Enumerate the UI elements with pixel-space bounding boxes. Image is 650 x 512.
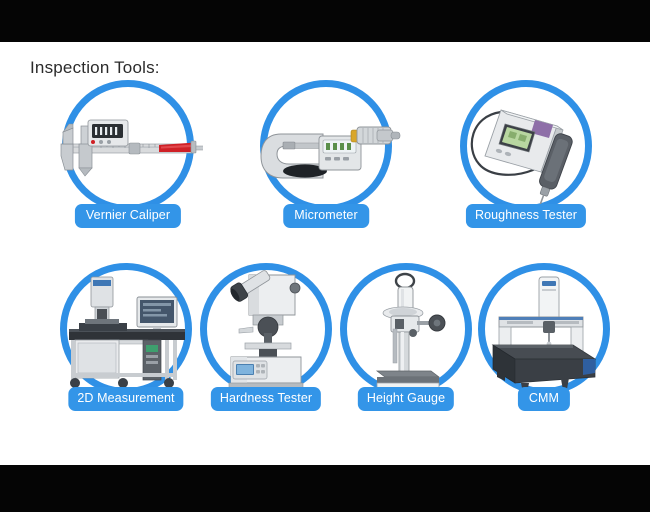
- slide-canvas: Inspection Tools:: [0, 0, 650, 512]
- slide-content-area: Inspection Tools:: [0, 42, 650, 465]
- letterbox-bottom: [0, 465, 650, 512]
- tool-label: Hardness Tester: [211, 387, 321, 411]
- tool-card-roughness-tester[interactable]: Roughness Tester: [450, 80, 602, 263]
- tool-label: Roughness Tester: [466, 204, 586, 228]
- tool-row-1: Vernier Caliper: [0, 80, 650, 263]
- tool-card-hardness-tester[interactable]: Hardness Tester: [190, 263, 342, 446]
- cmm-icon: [469, 265, 619, 393]
- tool-label: Vernier Caliper: [75, 204, 181, 228]
- tool-card-micrometer[interactable]: Micrometer: [250, 80, 402, 263]
- tool-grid: Vernier Caliper: [0, 80, 650, 446]
- tool-card-height-gauge[interactable]: Height Gauge: [330, 263, 482, 446]
- tool-label: CMM: [518, 387, 570, 411]
- tool-card-2d-measurement[interactable]: 2D Measurement: [50, 263, 202, 446]
- tool-row-2: 2D Measurement: [0, 263, 650, 446]
- roughness-tester-icon: [451, 82, 601, 210]
- page-title: Inspection Tools:: [30, 58, 160, 78]
- hardness-tester-icon: [191, 265, 341, 393]
- tool-card-vernier-caliper[interactable]: Vernier Caliper: [52, 80, 204, 263]
- tool-card-cmm[interactable]: CMM: [468, 263, 620, 446]
- micrometer-icon: [251, 82, 401, 210]
- height-gauge-icon: [331, 265, 481, 393]
- 2d-measurement-machine-icon: [51, 265, 201, 393]
- tool-label: Height Gauge: [358, 387, 454, 411]
- vernier-caliper-icon: [53, 82, 203, 210]
- tool-label: 2D Measurement: [68, 387, 183, 411]
- tool-label: Micrometer: [283, 204, 369, 228]
- letterbox-top: [0, 0, 650, 42]
